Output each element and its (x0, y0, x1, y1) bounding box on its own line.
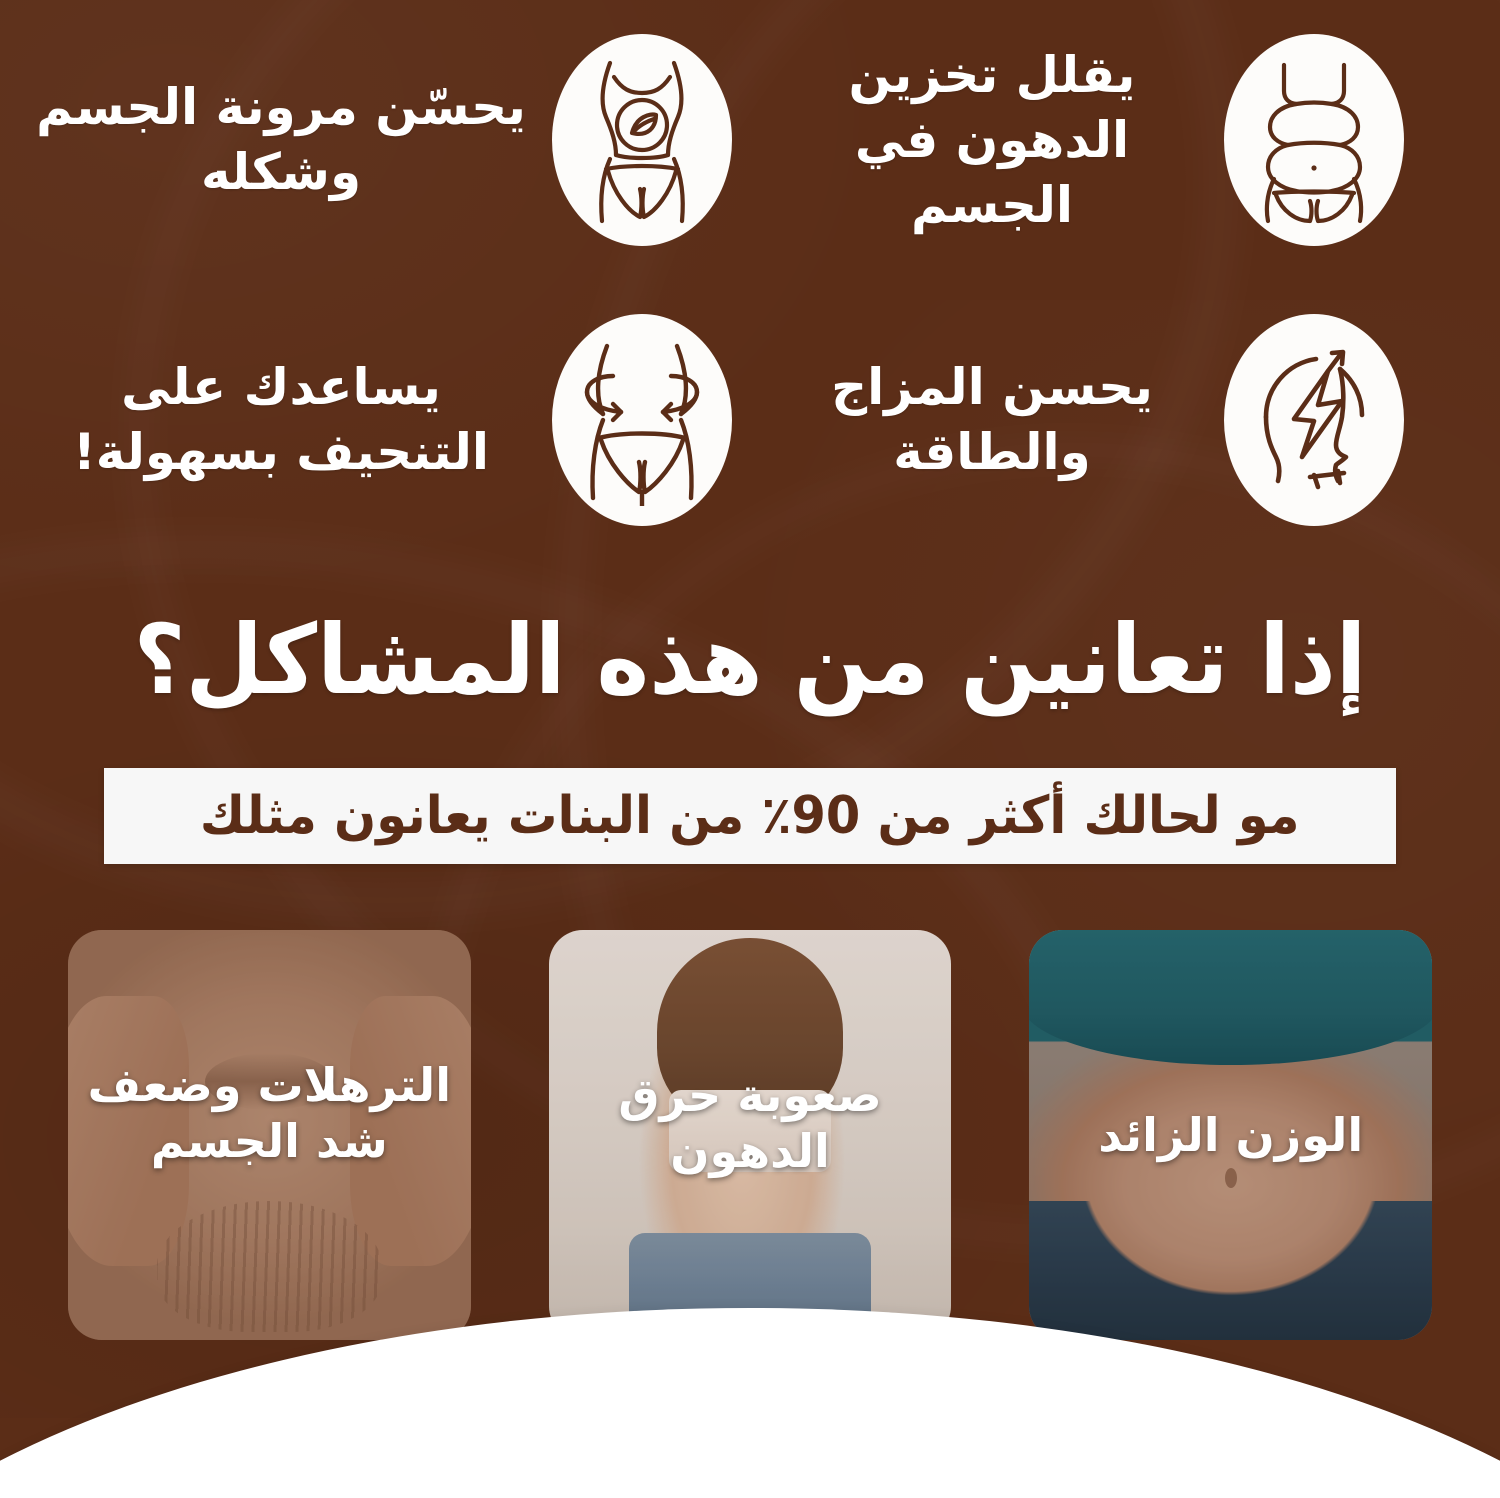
problem-card-label: الوزن الزائد (1080, 1107, 1381, 1163)
problem-card-list: الوزن الزائد صعوبة حرق الدهون الترهلات و… (68, 930, 1432, 1340)
feature-label: يقلل تخزين الدهون في الجسم (760, 43, 1224, 238)
statistic-banner: مو لحالك أكثر من 90٪ من البنات يعانون مث… (104, 768, 1396, 864)
problem-card-excess-weight[interactable]: الوزن الزائد (1029, 930, 1432, 1340)
feature-item-reduce-fat-storage: يقلل تخزين الدهون في الجسم (750, 0, 1500, 280)
feature-label: يحسّن مرونة الجسم وشكله (10, 75, 552, 205)
feature-grid: يقلل تخزين الدهون في الجسم (0, 0, 1500, 560)
infographic-root: يقلل تخزين الدهون في الجسم (0, 0, 1500, 1498)
page-headline: إذا تعانين من هذه المشاكل؟ (53, 612, 1448, 708)
statistic-banner-text: مو لحالك أكثر من 90٪ من البنات يعانون مث… (200, 790, 1300, 842)
waist-slimming-arrows-icon (552, 314, 732, 526)
problem-card-sagging-skin[interactable]: الترهلات وضعف شد الجسم (68, 930, 471, 1340)
feature-label: يساعدك على التنحيف بسهولة! (10, 355, 552, 485)
feature-item-easy-slimming: يساعدك على التنحيف بسهولة! (0, 280, 750, 560)
problem-card-label: صعوبة حرق الدهون (549, 1067, 952, 1179)
belly-fat-icon (1224, 34, 1404, 246)
problem-card-label: الترهلات وضعف شد الجسم (68, 1057, 471, 1169)
feature-item-improve-body-flexibility: يحسّن مرونة الجسم وشكله (0, 0, 750, 280)
problem-card-hard-to-burn-fat[interactable]: صعوبة حرق الدهون (549, 930, 952, 1340)
head-lightning-energy-icon (1224, 314, 1404, 526)
feature-item-improve-mood-energy: يحسن المزاج والطاقة (750, 280, 1500, 560)
feature-label: يحسن المزاج والطاقة (760, 355, 1224, 485)
slim-body-leaf-icon (552, 34, 732, 246)
